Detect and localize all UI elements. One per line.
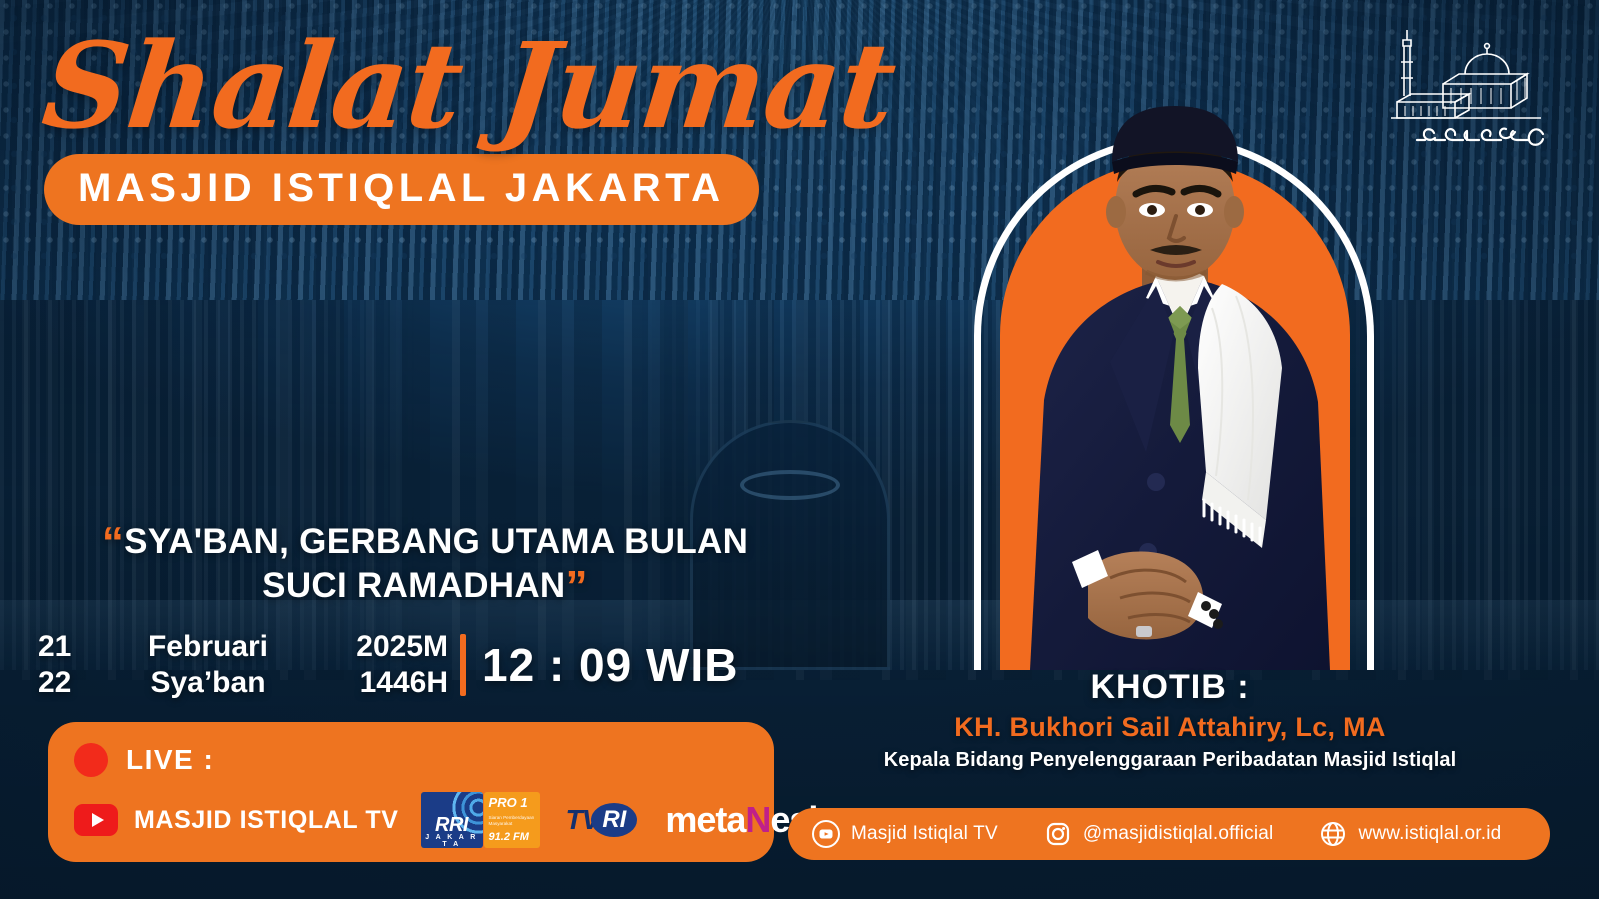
live-header-row: LIVE : xyxy=(74,736,752,784)
page-title: Shalat Jumat xyxy=(38,26,811,146)
youtube-icon[interactable] xyxy=(74,804,118,836)
gregorian-month: Februari xyxy=(98,630,318,664)
quote-close-mark: ” xyxy=(566,562,588,611)
tvri-ri-badge: RI xyxy=(591,803,637,837)
social-item-youtube[interactable]: Masjid Istiqlal TV xyxy=(812,820,998,848)
quote-open-mark: “ xyxy=(102,518,124,567)
social-label-youtube: Masjid Istiqlal TV xyxy=(851,823,998,845)
khotib-photo xyxy=(960,100,1400,670)
live-channels-row: MASJID ISTIQLAL TV RRI J A K A R T A PRO… xyxy=(74,792,752,848)
prayer-time: 12 : 09 WIB xyxy=(482,638,738,692)
date-grid: 21 Februari 2025M 22 Sya’ban 1446H xyxy=(38,630,448,700)
instagram-icon xyxy=(1044,820,1072,848)
quote-text-1: SYA'BAN, GERBANG UTAMA BULAN xyxy=(124,522,748,561)
rri-tagline: Siaran Pemberdayaan Masyarakat xyxy=(489,815,536,826)
rri-wordmark: RRI xyxy=(435,814,468,837)
globe-icon xyxy=(1319,820,1347,848)
schedule-block: 21 Februari 2025M 22 Sya’ban 1446H 12 : … xyxy=(38,630,738,700)
rri-pro-label: PRO 1 xyxy=(489,796,536,809)
masjid-istiqlal-logo xyxy=(1381,22,1571,152)
social-label-instagram: @masjidistiqlal.official xyxy=(1083,823,1274,845)
social-label-website: www.istiqlal.or.id xyxy=(1358,823,1501,845)
hijri-year: 1446H xyxy=(318,666,448,700)
quote-text-2: SUCI RAMADHAN xyxy=(262,566,565,605)
live-broadcast-panel: LIVE : MASJID ISTIQLAL TV RRI J A K A R … xyxy=(48,722,774,862)
live-channel-name: MASJID ISTIQLAL TV xyxy=(134,806,399,835)
quote-line-2: SUCI RAMADHAN” xyxy=(60,564,790,608)
rri-jakarta-logo: RRI J A K A R T A PRO 1 Siaran Pemberday… xyxy=(421,792,540,848)
poster-headline: Shalat Jumat MASJID ISTIQLAL JAKARTA xyxy=(44,26,804,225)
khotib-role: Kepala Bidang Penyelenggaraan Peribadata… xyxy=(790,749,1550,772)
play-triangle-icon xyxy=(92,813,104,827)
rri-mark: RRI J A K A R T A xyxy=(421,792,483,848)
subtitle-text: MASJID ISTIQLAL JAKARTA xyxy=(78,166,725,211)
gregorian-day: 21 xyxy=(38,630,98,664)
sermon-theme-quote: “SYA'BAN, GERBANG UTAMA BULAN SUCI RAMAD… xyxy=(60,520,790,608)
quote-line-1: “SYA'BAN, GERBANG UTAMA BULAN xyxy=(60,520,790,564)
metanesia-n-glyph: N xyxy=(745,799,770,840)
khotib-label: KHOTIB : xyxy=(790,668,1550,707)
khotib-portrait xyxy=(960,100,1400,670)
tvri-logo: TV RI xyxy=(566,803,638,837)
metanesia-pre: meta xyxy=(665,799,745,840)
time-divider xyxy=(460,634,466,696)
social-item-website[interactable]: www.istiqlal.or.id xyxy=(1319,820,1501,848)
live-label: LIVE : xyxy=(126,744,214,776)
youtube-icon xyxy=(812,820,840,848)
shalat-jumat-poster: Shalat Jumat MASJID ISTIQLAL JAKARTA “SY… xyxy=(0,0,1599,899)
social-media-bar: Masjid Istiqlal TV @masjidistiqlal.offic… xyxy=(788,808,1550,860)
rri-frequency: 91.2 FM xyxy=(489,832,536,843)
subtitle-banner: MASJID ISTIQLAL JAKARTA xyxy=(44,154,759,225)
khotib-info: KHOTIB : KH. Bukhori Sail Attahiry, Lc, … xyxy=(790,668,1550,772)
gregorian-year: 2025M xyxy=(318,630,448,664)
khotib-name: KH. Bukhori Sail Attahiry, Lc, MA xyxy=(790,712,1550,743)
live-indicator-icon xyxy=(74,743,108,777)
social-item-instagram[interactable]: @masjidistiqlal.official xyxy=(1044,820,1274,848)
rri-pro1-block: PRO 1 Siaran Pemberdayaan Masyarakat 91.… xyxy=(484,792,540,848)
hijri-day: 22 xyxy=(38,666,98,700)
hijri-month: Sya’ban xyxy=(98,666,318,700)
